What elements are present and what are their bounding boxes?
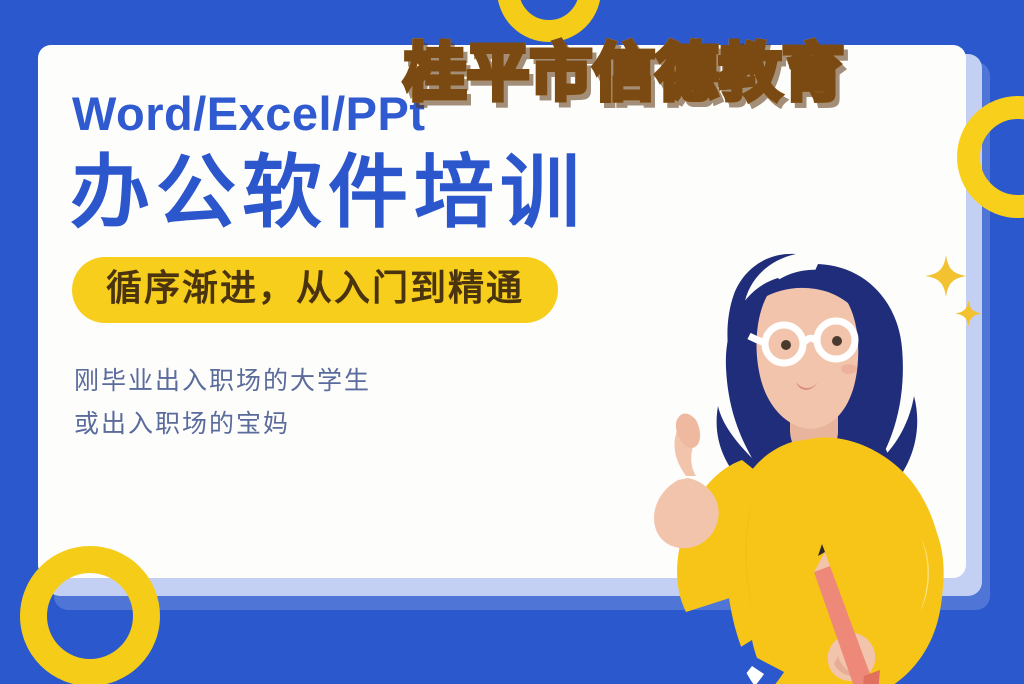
- promo-poster: Word/Excel/PPt 办公软件培训 循序渐进，从入门到精通 刚毕业出入职…: [0, 0, 1024, 684]
- sparkle-large-icon: [925, 255, 967, 297]
- watermark-text: 桂平市信德教育: [404, 22, 845, 112]
- tagline-badge: 循序渐进，从入门到精通: [72, 257, 558, 323]
- sparkle-small-icon: [955, 300, 982, 327]
- tagline-text: 循序渐进，从入门到精通: [106, 268, 524, 309]
- illustration-woman-pointing: [546, 236, 1024, 684]
- page-title: 办公软件培训: [70, 151, 728, 235]
- decor-ring-bottom-left: [20, 546, 160, 684]
